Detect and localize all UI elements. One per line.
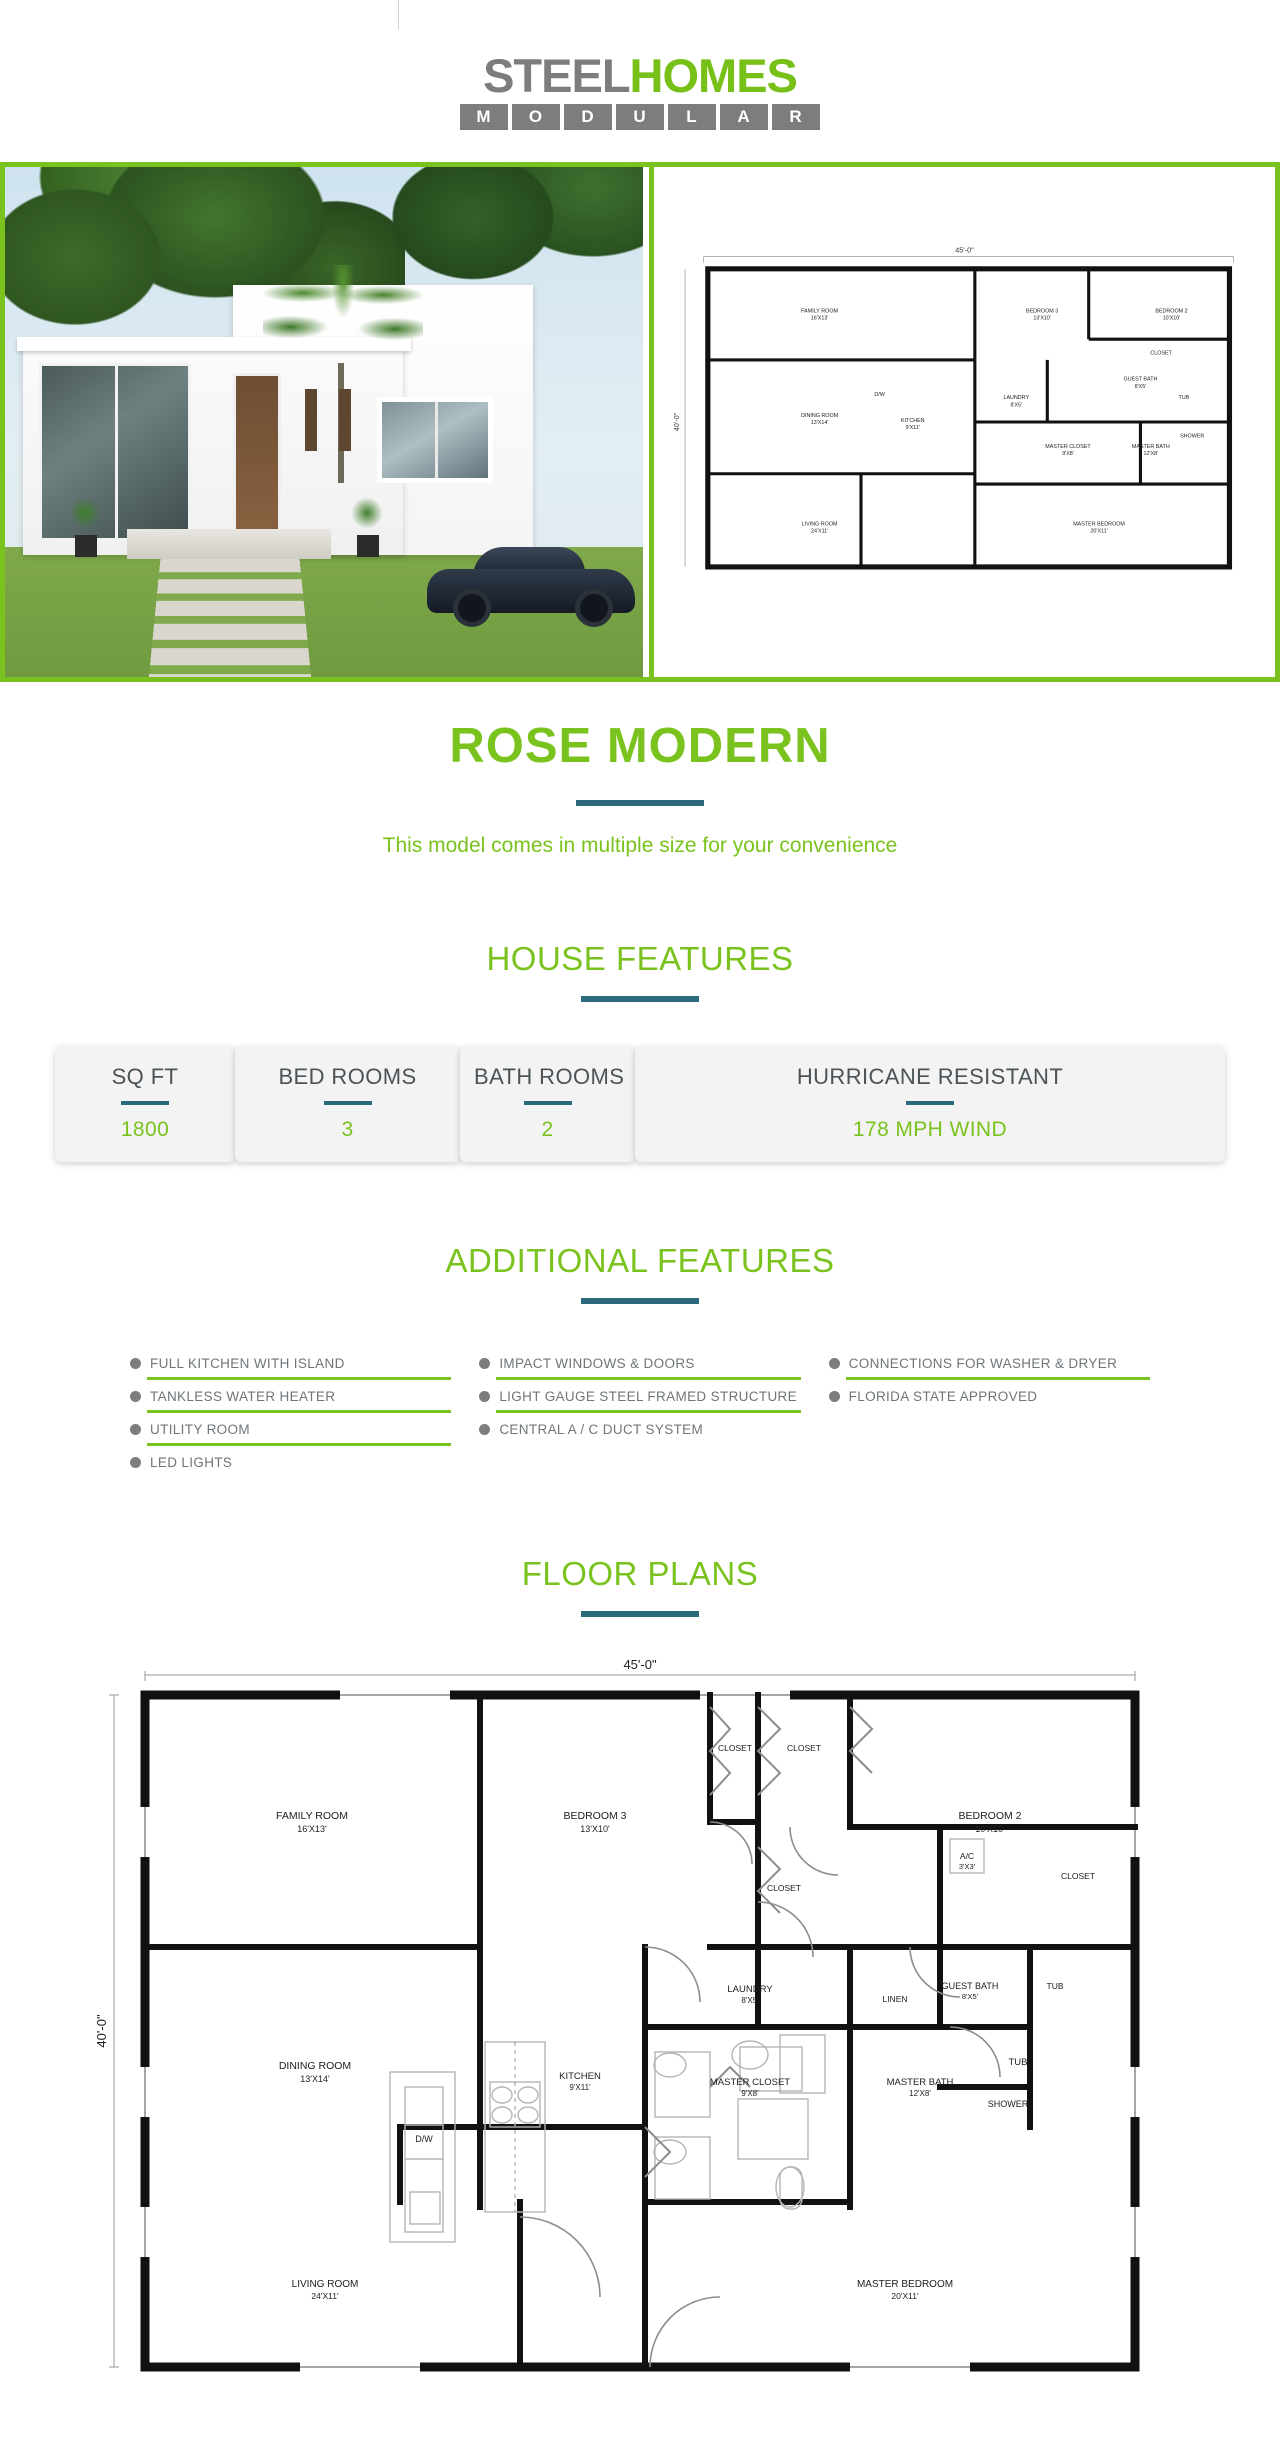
svg-text:13'X10': 13'X10' — [1033, 316, 1051, 322]
bullet-dot-icon — [829, 1358, 840, 1369]
room-name: KITCHEN — [559, 2071, 601, 2082]
logo-letter-l: L — [668, 104, 716, 130]
top-divider — [398, 0, 399, 30]
paver-walkway — [149, 559, 312, 677]
feature-card-rule — [324, 1101, 372, 1105]
room-size: 9'X8' — [741, 2089, 759, 2098]
feature-card-label: BATH ROOMS — [474, 1064, 621, 1090]
planter-right — [357, 535, 379, 557]
feature-card-bathrooms[interactable]: BATH ROOMS 2 — [460, 1046, 635, 1162]
room-size: 16'X13' — [297, 1824, 327, 1834]
room-name: GUEST BATH — [942, 1981, 999, 1991]
list-item: LIGHT GAUGE STEEL FRAMED STRUCTURE — [479, 1383, 800, 1409]
bullet-dot-icon — [130, 1424, 141, 1435]
bullet-dot-icon — [479, 1391, 490, 1402]
svg-text:D/W: D/W — [874, 392, 885, 398]
floor-plans-underline — [581, 1611, 699, 1617]
plan-dim-height: 40'-0" — [94, 2014, 109, 2048]
side-window — [377, 397, 493, 483]
svg-text:MASTER BEDROOM: MASTER BEDROOM — [1073, 522, 1125, 528]
floor-plan-large[interactable]: 45'-0" 40'-0" — [90, 1647, 1190, 2407]
feature-label: CENTRAL A / C DUCT SYSTEM — [499, 1417, 703, 1443]
feature-card-hurricane[interactable]: HURRICANE RESISTANT 178 MPH WIND — [635, 1046, 1225, 1162]
room-size: 10'X10' — [975, 1824, 1005, 1834]
logo-letter-a: A — [720, 104, 768, 130]
svg-text:KITCHEN: KITCHEN — [901, 418, 925, 424]
svg-text:24'X11': 24'X11' — [811, 529, 828, 535]
room-name: LAUNDRY — [727, 1984, 773, 1995]
exterior-walls — [145, 1695, 1135, 2367]
bullet-dot-icon — [130, 1358, 141, 1369]
hero-gallery: 45'-0" 40'-0" — [0, 162, 1280, 682]
svg-text:BEDROOM 2: BEDROOM 2 — [1155, 308, 1187, 314]
room-name: LINEN — [882, 1994, 907, 2004]
feature-card-label: BED ROOMS — [249, 1064, 446, 1090]
logo-letter-r: R — [772, 104, 820, 130]
svg-text:CLOSET: CLOSET — [1150, 351, 1172, 357]
window-slit-1 — [305, 389, 317, 451]
front-door — [233, 373, 281, 545]
feature-card-label: HURRICANE RESISTANT — [649, 1064, 1211, 1090]
svg-text:LIVING ROOM: LIVING ROOM — [802, 522, 838, 528]
model-subtitle: This model comes in multiple size for yo… — [320, 832, 960, 860]
list-item: FLORIDA STATE APPROVED — [829, 1383, 1150, 1409]
bullet-dot-icon — [130, 1391, 141, 1402]
svg-text:GUEST BATH: GUEST BATH — [1124, 377, 1158, 383]
feature-card-label: SQ FT — [69, 1064, 221, 1090]
bullet-dot-icon — [479, 1424, 490, 1435]
site-logo[interactable]: STEELHOMES M O D U L A R — [0, 0, 1280, 130]
page-root: STEELHOMES M O D U L A R — [0, 0, 1280, 2407]
feature-card-value: 178 MPH WIND — [649, 1118, 1211, 1142]
car-icon — [427, 545, 635, 629]
room-name: CLOSET — [767, 1883, 801, 1893]
feature-divider — [496, 1377, 800, 1380]
feature-divider — [496, 1410, 800, 1413]
svg-text:20'X11': 20'X11' — [1090, 529, 1107, 535]
feature-label: TANKLESS WATER HEATER — [150, 1384, 335, 1410]
svg-text:MASTER BATH: MASTER BATH — [1132, 444, 1170, 450]
room-name: DINING ROOM — [279, 2060, 351, 2072]
window-glazing — [145, 1695, 1135, 2367]
svg-text:9'X8': 9'X8' — [1062, 451, 1074, 457]
feature-label: IMPACT WINDOWS & DOORS — [499, 1351, 694, 1377]
house-features-underline — [581, 996, 699, 1002]
logo-letter-u: U — [616, 104, 664, 130]
house-features-heading: HOUSE FEATURES — [0, 940, 1280, 978]
feature-divider — [147, 1443, 451, 1446]
room-name: MASTER BATH — [887, 2077, 954, 2088]
model-title: ROSE MODERN — [0, 718, 1280, 774]
logo-homes-text: HOMES — [630, 49, 797, 102]
house-features-cards: SQ FT 1800 BED ROOMS 3 BATH ROOMS 2 HURR… — [55, 1046, 1225, 1162]
additional-features-column-2: IMPACT WINDOWS & DOORS LIGHT GAUGE STEEL… — [479, 1350, 800, 1475]
room-size: 12'X8' — [909, 2089, 931, 2098]
feature-label: FULL KITCHEN WITH ISLAND — [150, 1351, 345, 1377]
room-size: 8'X5' — [741, 1996, 759, 2005]
additional-features-column-1: FULL KITCHEN WITH ISLAND TANKLESS WATER … — [130, 1350, 451, 1475]
feature-label: LIGHT GAUGE STEEL FRAMED STRUCTURE — [499, 1384, 797, 1410]
logo-wordmark: STEELHOMES — [460, 52, 820, 99]
svg-text:10'X10': 10'X10' — [1163, 316, 1181, 322]
feature-card-value: 2 — [474, 1118, 621, 1142]
room-size: 24'X11' — [311, 2291, 339, 2301]
room-name: MASTER BEDROOM — [857, 2279, 953, 2290]
room-size: 20'X11' — [891, 2291, 919, 2301]
wall-openings — [145, 1695, 1135, 2367]
plan-dim-width: 45'-0" — [623, 1657, 657, 1672]
svg-text:16'X13': 16'X13' — [811, 316, 829, 322]
room-name: BEDROOM 2 — [958, 1810, 1021, 1822]
floor-plans-heading: FLOOR PLANS — [0, 1555, 1280, 1593]
feature-card-value: 1800 — [69, 1118, 221, 1142]
thumb-dim-height: 40'-0" — [672, 412, 681, 431]
svg-text:FAMILY ROOM: FAMILY ROOM — [801, 308, 838, 314]
feature-label: CONNECTIONS FOR WASHER & DRYER — [849, 1351, 1118, 1377]
feature-label: LED LIGHTS — [150, 1450, 232, 1476]
list-item: IMPACT WINDOWS & DOORS — [479, 1350, 800, 1376]
room-name: CLOSET — [1061, 1871, 1095, 1881]
additional-features-column-3: CONNECTIONS FOR WASHER & DRYER FLORIDA S… — [829, 1350, 1150, 1475]
svg-text:12'X8': 12'X8' — [1143, 451, 1158, 457]
room-name: TUB — [1009, 2057, 1028, 2068]
room-name: D/W — [415, 2134, 433, 2144]
feature-card-rule — [524, 1101, 572, 1105]
feature-card-rule — [906, 1101, 954, 1105]
window-slit-2 — [339, 389, 351, 451]
list-item: LED LIGHTS — [130, 1449, 451, 1475]
plan-thumbnail[interactable]: 45'-0" 40'-0" — [649, 167, 1275, 677]
logo-steel-text: STEEL — [483, 49, 629, 102]
svg-text:SHOWER: SHOWER — [1180, 434, 1204, 440]
feature-divider — [147, 1377, 451, 1380]
thumb-dim-width: 45'-0" — [955, 245, 974, 254]
room-name: BEDROOM 3 — [563, 1810, 626, 1822]
bullet-dot-icon — [829, 1391, 840, 1402]
additional-features-underline — [581, 1298, 699, 1304]
room-name: FAMILY ROOM — [276, 1810, 348, 1822]
room-name: LIVING ROOM — [292, 2279, 359, 2290]
logo-letter-d: D — [564, 104, 612, 130]
feature-divider — [147, 1410, 451, 1413]
bullet-dot-icon — [479, 1358, 490, 1369]
feature-card-bedrooms[interactable]: BED ROOMS 3 — [235, 1046, 460, 1162]
list-item: FULL KITCHEN WITH ISLAND — [130, 1350, 451, 1376]
svg-text:8'X5': 8'X5' — [1135, 384, 1147, 390]
sliding-glass-doors — [39, 363, 191, 541]
room-size: 13'X10' — [580, 1824, 610, 1834]
bullet-dot-icon — [130, 1457, 141, 1468]
svg-text:MASTER CLOSET: MASTER CLOSET — [1045, 444, 1091, 450]
list-item: CENTRAL A / C DUCT SYSTEM — [479, 1416, 800, 1442]
svg-text:DINING ROOM: DINING ROOM — [801, 413, 839, 419]
additional-features-columns: FULL KITCHEN WITH ISLAND TANKLESS WATER … — [130, 1350, 1150, 1475]
feature-label: FLORIDA STATE APPROVED — [849, 1384, 1038, 1410]
svg-text:BEDROOM 3: BEDROOM 3 — [1026, 308, 1058, 314]
floor-plan-svg: 45'-0" 40'-0" — [90, 1647, 1190, 2407]
additional-features-heading: ADDITIONAL FEATURES — [0, 1242, 1280, 1280]
room-name: A/C — [960, 1851, 974, 1861]
feature-label: UTILITY ROOM — [150, 1417, 250, 1443]
entry-steps — [127, 529, 331, 559]
interior-walls — [145, 1695, 1135, 2367]
svg-text:13'X14': 13'X14' — [811, 420, 829, 426]
list-item: TANKLESS WATER HEATER — [130, 1383, 451, 1409]
list-item: CONNECTIONS FOR WASHER & DRYER — [829, 1350, 1150, 1376]
feature-card-rule — [121, 1101, 169, 1105]
svg-text:8'X5': 8'X5' — [1010, 402, 1022, 408]
room-size: 13'X14' — [300, 2074, 330, 2084]
svg-text:9'X11': 9'X11' — [906, 425, 920, 431]
feature-divider — [846, 1377, 1150, 1380]
logo-letter-m: M — [460, 104, 508, 130]
room-size: 3'X3' — [959, 1862, 976, 1871]
logo-modular-blocks: M O D U L A R — [460, 104, 820, 130]
room-size: 8'X5' — [962, 1992, 979, 2001]
room-name: SHOWER — [988, 2099, 1029, 2109]
plan-thumbnail-svg: 45'-0" 40'-0" — [654, 167, 1275, 677]
feature-card-value: 3 — [249, 1118, 446, 1142]
room-size: 9'X11' — [569, 2083, 591, 2092]
room-name: CLOSET — [718, 1743, 752, 1753]
room-name: MASTER CLOSET — [710, 2077, 790, 2088]
title-underline — [576, 800, 704, 806]
house-photo[interactable] — [5, 167, 643, 677]
room-name: CLOSET — [787, 1743, 821, 1753]
planter-left — [75, 535, 97, 557]
feature-card-sqft[interactable]: SQ FT 1800 — [55, 1046, 235, 1162]
logo-letter-o: O — [512, 104, 560, 130]
room-name: TUB — [1047, 1981, 1064, 1991]
list-item: UTILITY ROOM — [130, 1416, 451, 1442]
svg-text:LAUNDRY: LAUNDRY — [1003, 395, 1029, 401]
svg-text:TUB: TUB — [1179, 395, 1190, 401]
